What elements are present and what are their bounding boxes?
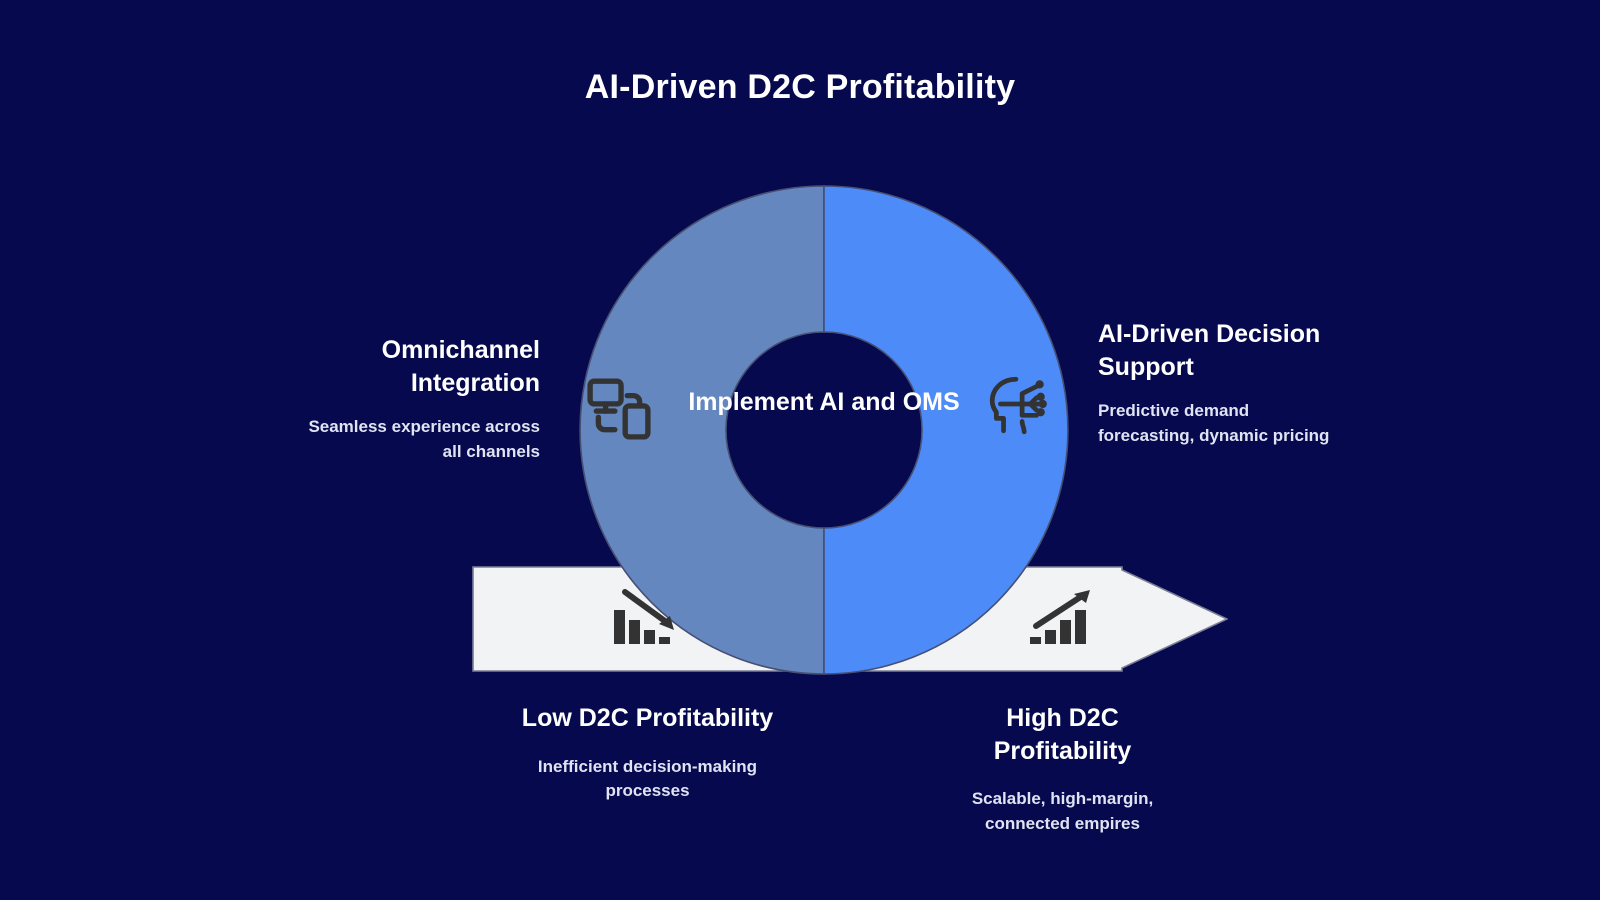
quadrant-right-heading: AI-Driven Decision Support <box>1098 318 1343 383</box>
quadrant-right-description: Predictive demand forecasting, dynamic p… <box>1098 399 1343 448</box>
page-title: AI-Driven D2C Profitability <box>0 68 1600 107</box>
outcome-right-text: High D2C Profitability Scalable, high-ma… <box>935 702 1190 836</box>
ai-head-icon <box>985 372 1051 438</box>
outcome-right-heading: High D2C Profitability <box>935 702 1190 767</box>
rising-bar-chart-icon <box>1028 588 1096 648</box>
outcome-left-text: Low D2C Profitability Inefficient decisi… <box>520 702 775 804</box>
quadrant-right-text: AI-Driven Decision Support Predictive de… <box>1098 318 1343 448</box>
declining-bar-chart-icon <box>612 588 680 648</box>
quadrant-left-heading: Omnichannel Integration <box>305 334 540 399</box>
devices-icon <box>586 375 652 441</box>
donut-hole <box>727 333 921 527</box>
quadrant-left-text: Omnichannel Integration Seamless experie… <box>305 334 540 464</box>
infographic-canvas: AI-Driven D2C Profitability Implement AI… <box>0 0 1600 900</box>
outcome-left-heading: Low D2C Profitability <box>520 702 775 735</box>
outcome-left-description: Inefficient decision-making processes <box>520 755 775 804</box>
quadrant-left-description: Seamless experience across all channels <box>305 415 540 464</box>
donut-center-label: Implement AI and OMS <box>679 386 969 419</box>
outcome-right-description: Scalable, high-margin, connected empires <box>935 787 1190 836</box>
